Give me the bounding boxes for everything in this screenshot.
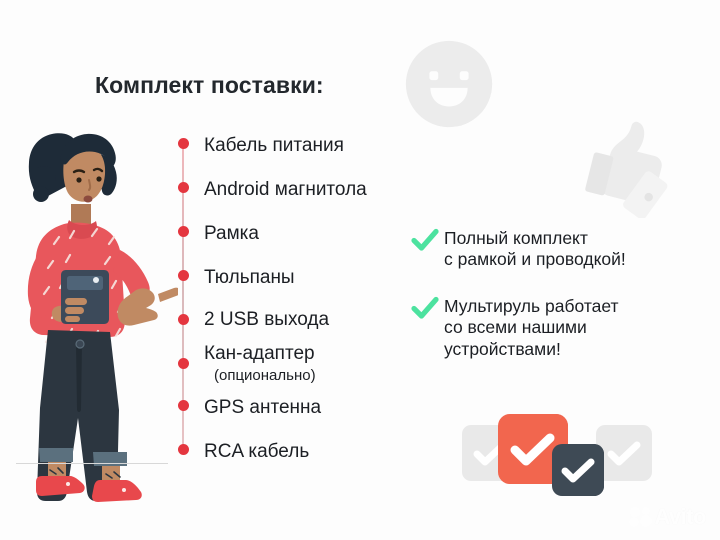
woman-illustration (8, 112, 178, 502)
timeline-bullet (178, 226, 189, 237)
feature-text: Полный комплект с рамкой и проводкой! (444, 228, 626, 271)
poster-canvas: Комплект поставки: (0, 0, 720, 540)
list-item-sub: (опционально) (214, 368, 316, 383)
checkbox-card-gray-right (596, 425, 652, 481)
timeline-bullet (178, 358, 189, 369)
list-item: Кабель питания (204, 136, 344, 155)
avito-watermark-text: Avito (654, 504, 706, 530)
check-icon (410, 225, 440, 255)
avito-watermark: Avito (628, 504, 706, 530)
list-item: 2 USB выхода (204, 310, 329, 329)
timeline-bullet (178, 182, 189, 193)
thumbs-up-icon (572, 112, 678, 218)
timeline-bullet (178, 138, 189, 149)
ground-line (16, 463, 168, 464)
timeline-bullet (178, 444, 189, 455)
list-item: Тюльпаны (204, 268, 295, 287)
feature-item: Мультируль работает со всеми нашими устр… (410, 296, 695, 360)
check-icon (410, 293, 440, 323)
avito-logo-icon (628, 506, 654, 528)
timeline-bullet (178, 270, 189, 281)
checkbox-cards-graphic (462, 408, 652, 498)
checkbox-card-dark (552, 444, 604, 496)
check-icon (596, 425, 652, 481)
timeline-rail (178, 138, 188, 448)
feature-item: Полный комплект с рамкой и проводкой! (410, 228, 690, 271)
timeline-bullet (178, 314, 189, 325)
list-item: Рамка (204, 224, 259, 243)
list-item: Android магнитола (204, 180, 367, 199)
check-icon (552, 444, 604, 496)
feature-text: Мультируль работает со всеми нашими устр… (444, 296, 619, 360)
list-item: GPS антенна (204, 398, 321, 417)
page-title: Комплект поставки: (95, 72, 324, 99)
list-item: Кан-адаптер (204, 344, 315, 363)
list-item: RCA кабель (204, 442, 309, 461)
timeline-bullet (178, 400, 189, 411)
smiley-face-icon (400, 35, 498, 133)
